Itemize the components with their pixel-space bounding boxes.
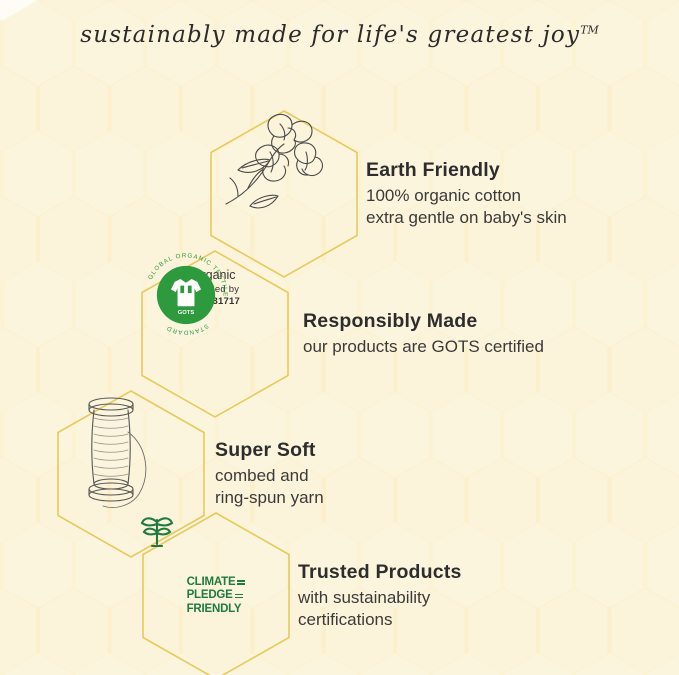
hex-frame-trusted-products: CLIMATE PLEDGE FRIENDLY (140, 510, 292, 675)
feature-line: with sustainability (298, 587, 462, 609)
feature-line: ring-spun yarn (215, 487, 324, 509)
feature-text-earth-friendly: Earth Friendly 100% organic cotton extra… (366, 159, 567, 230)
cpf-line-3: FRIENDLY (187, 603, 242, 617)
feature-title: Super Soft (215, 439, 324, 462)
feature-title: Trusted Products (298, 561, 462, 584)
cotton-branch-icon (208, 108, 328, 228)
cpf-bars-icon (235, 594, 243, 599)
feature-line: certifications (298, 609, 462, 631)
gots-organic-seal-icon: GOTS GLOBAL ORGANIC TEXTILE STANDARD (139, 248, 233, 342)
feature-line: extra gentle on baby's skin (366, 207, 567, 229)
feature-text-super-soft: Super Soft combed and ring-spun yarn (215, 439, 324, 510)
thread-spool-icon (55, 388, 175, 518)
feature-title: Earth Friendly (366, 159, 567, 182)
cpf-line-2: PLEDGE (187, 589, 233, 603)
trademark-symbol: TM (580, 23, 599, 36)
cpf-bars-icon (237, 580, 245, 585)
feature-text-trusted-products: Trusted Products with sustainability cer… (298, 561, 462, 632)
feature-line: combed and (215, 465, 324, 487)
climate-pledge-friendly-icon: CLIMATE PLEDGE FRIENDLY (187, 576, 246, 617)
climate-pledge-friendly-wordmark: CLIMATE PLEDGE FRIENDLY (187, 576, 246, 617)
svg-text:GOTS: GOTS (178, 310, 195, 316)
page-headline: sustainably made for life's greatest joy… (0, 22, 679, 48)
feature-line: 100% organic cotton (366, 185, 567, 207)
headline-text: sustainably made for life's greatest joy (80, 22, 580, 48)
feature-line: our products are GOTS certified (303, 336, 544, 358)
svg-text:STANDARD: STANDARD (165, 322, 210, 335)
feature-title: Responsibly Made (303, 310, 544, 333)
feature-trusted-products: CLIMATE PLEDGE FRIENDLY (140, 510, 462, 675)
feature-text-responsibly-made: Responsibly Made our products are GOTS c… (303, 310, 544, 358)
cpf-wings-icon (140, 510, 174, 550)
cpf-line-1: CLIMATE (187, 576, 236, 590)
